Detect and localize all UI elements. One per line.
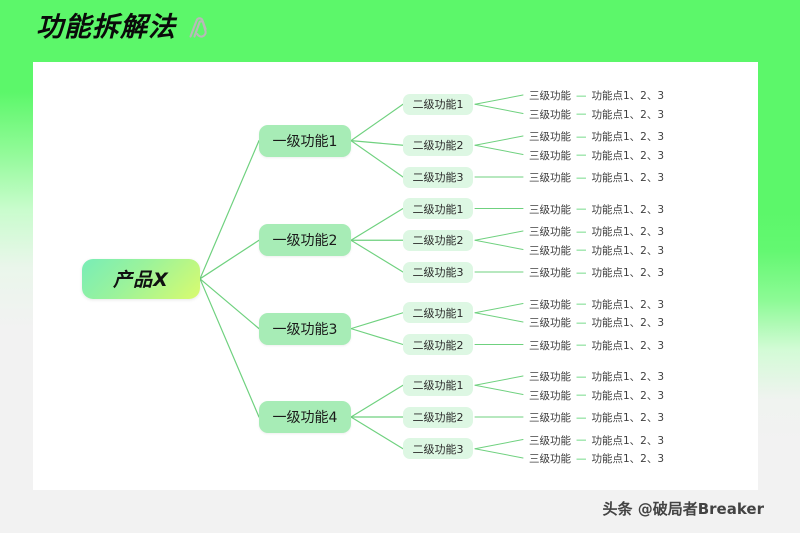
leaf-points: 功能点1、2、3 bbox=[592, 88, 665, 103]
l2-node-b4-c2[interactable]: 二级功能2 bbox=[403, 407, 473, 428]
leaf-dash: — bbox=[576, 434, 587, 446]
l2-node-b1-c3-label: 二级功能3 bbox=[413, 169, 464, 185]
l2-node-b2-c2[interactable]: 二级功能2 bbox=[403, 230, 473, 251]
l1-node-1-label: 一级功能1 bbox=[273, 131, 338, 151]
leaf-points: 功能点1、2、3 bbox=[592, 170, 665, 185]
leaf-dash: — bbox=[576, 371, 587, 383]
leaf-title: 三级功能 bbox=[529, 388, 571, 403]
leaf-title: 三级功能 bbox=[529, 451, 571, 466]
leaf-row: 三级功能—功能点1、2、3 bbox=[529, 338, 664, 353]
leaf-row: 三级功能—功能点1、2、3 bbox=[529, 88, 664, 103]
leaf-row: 三级功能—功能点1、2、3 bbox=[529, 433, 664, 448]
leaf-row: 三级功能—功能点1、2、3 bbox=[529, 369, 664, 384]
page-title-text: 功能拆解法 bbox=[36, 14, 176, 41]
l1-node-2-label: 一级功能2 bbox=[273, 230, 338, 250]
leaf-title: 三级功能 bbox=[529, 243, 571, 258]
leaf-title: 三级功能 bbox=[529, 202, 571, 217]
leaf-points: 功能点1、2、3 bbox=[592, 315, 665, 330]
l1-node-4[interactable]: 一级功能4 bbox=[259, 401, 351, 433]
leaf-dash: — bbox=[576, 131, 587, 143]
leaf-points: 功能点1、2、3 bbox=[592, 451, 665, 466]
leaf-row: 三级功能—功能点1、2、3 bbox=[529, 451, 664, 466]
l2-node-b3-c2[interactable]: 二级功能2 bbox=[403, 334, 473, 355]
leaf-row: 三级功能—功能点1、2、3 bbox=[529, 148, 664, 163]
leaf-title: 三级功能 bbox=[529, 433, 571, 448]
leaf-points: 功能点1、2、3 bbox=[592, 338, 665, 353]
root-node[interactable]: 产品X bbox=[82, 259, 200, 299]
leaf-dash: — bbox=[576, 267, 587, 279]
l2-node-b3-c2-label: 二级功能2 bbox=[413, 337, 464, 353]
leaf-dash: — bbox=[576, 317, 587, 329]
leaf-title: 三级功能 bbox=[529, 369, 571, 384]
leaf-title: 三级功能 bbox=[529, 129, 571, 144]
l2-node-b4-c1-label: 二级功能1 bbox=[413, 377, 464, 393]
leaf-row: 三级功能—功能点1、2、3 bbox=[529, 265, 664, 280]
l2-node-b3-c1-label: 二级功能1 bbox=[413, 305, 464, 321]
leaf-dash: — bbox=[576, 172, 587, 184]
mindmap-card: 三级功能—功能点1、2、3三级功能—功能点1、2、3三级功能—功能点1、2、3三… bbox=[33, 62, 758, 490]
leaf-title: 三级功能 bbox=[529, 265, 571, 280]
l1-node-2[interactable]: 一级功能2 bbox=[259, 224, 351, 256]
leaf-points: 功能点1、2、3 bbox=[592, 369, 665, 384]
leaf-title: 三级功能 bbox=[529, 88, 571, 103]
leaf-dash: — bbox=[576, 108, 587, 120]
leaf-points: 功能点1、2、3 bbox=[592, 107, 665, 122]
l2-node-b1-c1-label: 二级功能1 bbox=[413, 96, 464, 112]
leaf-dash: — bbox=[576, 453, 587, 465]
leaf-points: 功能点1、2、3 bbox=[592, 243, 665, 258]
leaf-row: 三级功能—功能点1、2、3 bbox=[529, 297, 664, 312]
l2-node-b4-c2-label: 二级功能2 bbox=[413, 409, 464, 425]
l2-node-b2-c3[interactable]: 二级功能3 bbox=[403, 262, 473, 283]
l1-node-4-label: 一级功能4 bbox=[273, 407, 338, 427]
leaf-row: 三级功能—功能点1、2、3 bbox=[529, 388, 664, 403]
l2-node-b4-c1[interactable]: 二级功能1 bbox=[403, 375, 473, 396]
l2-node-b1-c1[interactable]: 二级功能1 bbox=[403, 94, 473, 115]
leaf-points: 功能点1、2、3 bbox=[592, 224, 665, 239]
leaf-points: 功能点1、2、3 bbox=[592, 202, 665, 217]
l2-node-b1-c2[interactable]: 二级功能2 bbox=[403, 135, 473, 156]
footer-watermark: 头条 @破局者Breaker bbox=[603, 498, 765, 519]
leaf-title: 三级功能 bbox=[529, 170, 571, 185]
paperclip-icon bbox=[184, 15, 210, 41]
leaf-row: 三级功能—功能点1、2、3 bbox=[529, 410, 664, 425]
l2-node-b2-c1[interactable]: 二级功能1 bbox=[403, 198, 473, 219]
leaf-row: 三级功能—功能点1、2、3 bbox=[529, 129, 664, 144]
slide-canvas: 功能拆解法 三级功能—功能点1、2、3三级功能—功能点1、2、3三级功能—功能点… bbox=[0, 0, 800, 533]
leaf-dash: — bbox=[576, 149, 587, 161]
leaf-title: 三级功能 bbox=[529, 224, 571, 239]
leaf-dash: — bbox=[576, 244, 587, 256]
leaf-row: 三级功能—功能点1、2、3 bbox=[529, 243, 664, 258]
leaf-points: 功能点1、2、3 bbox=[592, 297, 665, 312]
leaf-dash: — bbox=[576, 226, 587, 238]
l2-node-b2-c1-label: 二级功能1 bbox=[413, 201, 464, 217]
l2-node-b4-c3[interactable]: 二级功能3 bbox=[403, 438, 473, 459]
leaf-dash: — bbox=[576, 203, 587, 215]
leaf-dash: — bbox=[576, 90, 587, 102]
l1-node-3[interactable]: 一级功能3 bbox=[259, 313, 351, 345]
leaf-title: 三级功能 bbox=[529, 148, 571, 163]
leaf-points: 功能点1、2、3 bbox=[592, 410, 665, 425]
leaf-points: 功能点1、2、3 bbox=[592, 129, 665, 144]
leaf-row: 三级功能—功能点1、2、3 bbox=[529, 224, 664, 239]
l1-node-1[interactable]: 一级功能1 bbox=[259, 125, 351, 157]
leaf-title: 三级功能 bbox=[529, 315, 571, 330]
l2-node-b2-c2-label: 二级功能2 bbox=[413, 232, 464, 248]
leaf-title: 三级功能 bbox=[529, 338, 571, 353]
leaf-points: 功能点1、2、3 bbox=[592, 433, 665, 448]
root-node-label: 产品X bbox=[113, 265, 169, 292]
leaf-dash: — bbox=[576, 339, 587, 351]
leaf-row: 三级功能—功能点1、2、3 bbox=[529, 315, 664, 330]
leaf-row: 三级功能—功能点1、2、3 bbox=[529, 170, 664, 185]
l2-node-b1-c3[interactable]: 二级功能3 bbox=[403, 167, 473, 188]
leaf-points: 功能点1、2、3 bbox=[592, 148, 665, 163]
leaf-title: 三级功能 bbox=[529, 107, 571, 122]
leaf-dash: — bbox=[576, 412, 587, 424]
l2-node-b3-c1[interactable]: 二级功能1 bbox=[403, 302, 473, 323]
leaf-row: 三级功能—功能点1、2、3 bbox=[529, 107, 664, 122]
l2-node-b4-c3-label: 二级功能3 bbox=[413, 441, 464, 457]
leaf-title: 三级功能 bbox=[529, 410, 571, 425]
l2-node-b1-c2-label: 二级功能2 bbox=[413, 137, 464, 153]
leaf-points: 功能点1、2、3 bbox=[592, 388, 665, 403]
page-title: 功能拆解法 bbox=[36, 14, 210, 41]
leaf-row: 三级功能—功能点1、2、3 bbox=[529, 202, 664, 217]
l2-node-b2-c3-label: 二级功能3 bbox=[413, 264, 464, 280]
leaf-points: 功能点1、2、3 bbox=[592, 265, 665, 280]
leaf-dash: — bbox=[576, 298, 587, 310]
l1-node-3-label: 一级功能3 bbox=[273, 319, 338, 339]
leaf-title: 三级功能 bbox=[529, 297, 571, 312]
leaf-dash: — bbox=[576, 389, 587, 401]
